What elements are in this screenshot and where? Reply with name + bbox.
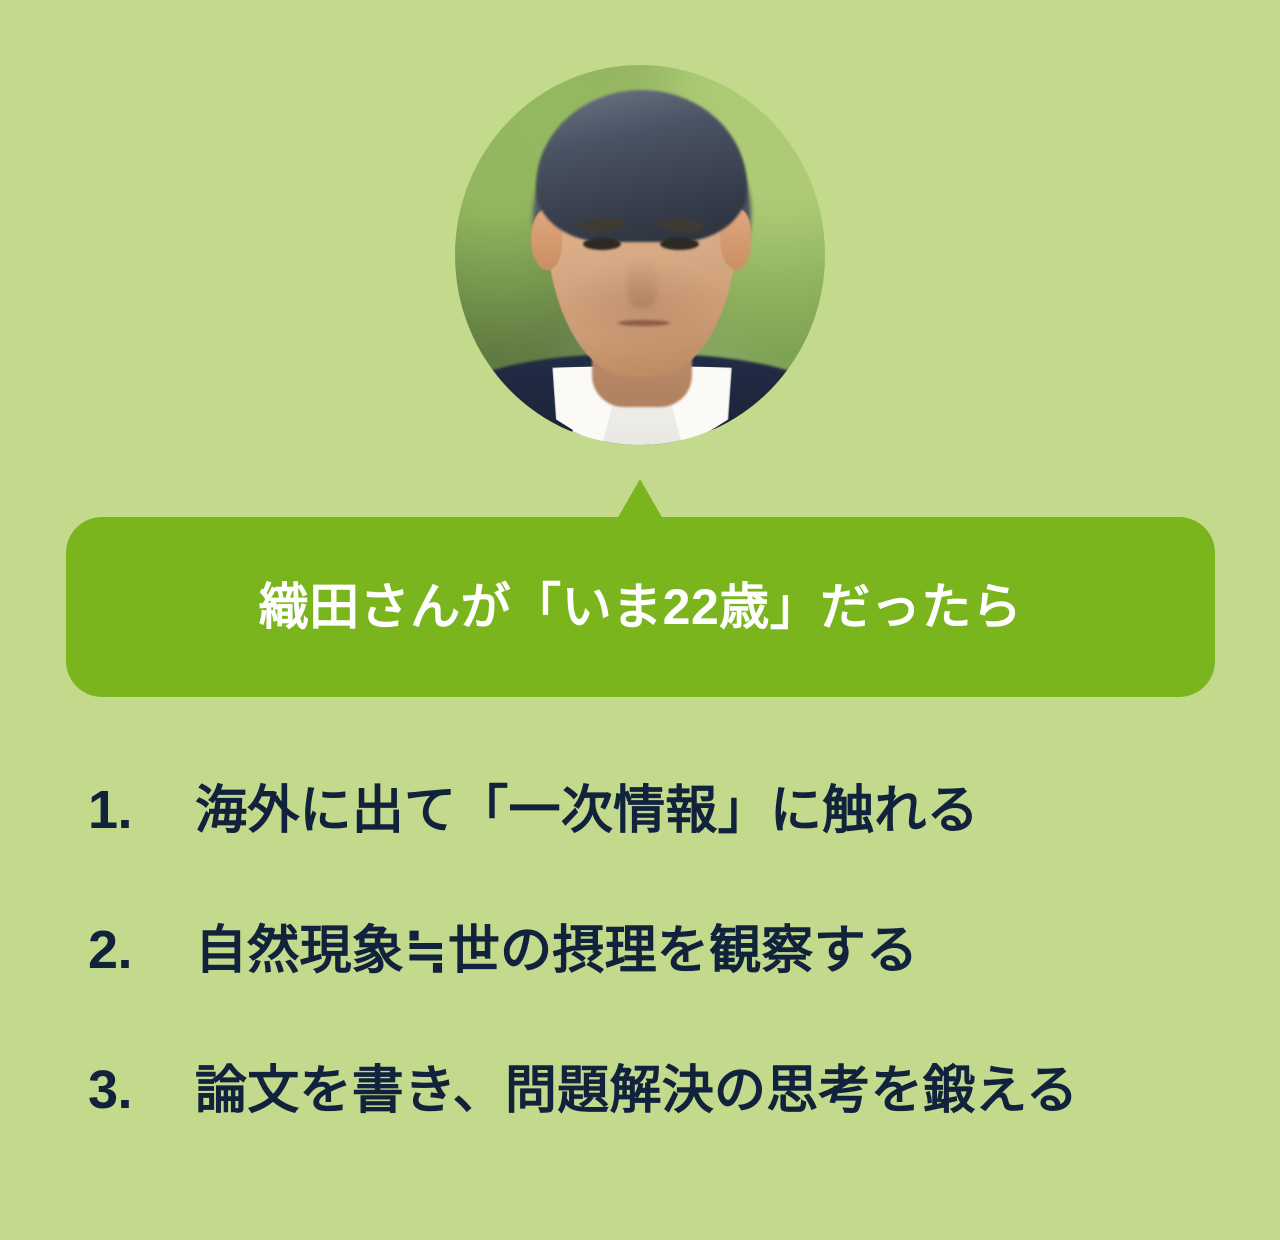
list-item: 1. 海外に出て「一次情報」に触れる <box>88 768 1208 908</box>
list-item-text: 海外に出て「一次情報」に触れる <box>195 768 979 843</box>
list-item-text: 論文を書き、問題解決の思考を鍛える <box>195 1048 1078 1123</box>
speech-bubble: 織田さんが「いま22歳」だったら <box>66 517 1215 697</box>
list-item: 3. 論文を書き、問題解決の思考を鍛える <box>88 1048 1208 1188</box>
numbered-list: 1. 海外に出て「一次情報」に触れる 2. 自然現象≒世の摂理を観察する 3. … <box>88 768 1208 1188</box>
bubble-title: 織田さんが「いま22歳」だったら <box>259 577 1023 637</box>
list-item-text: 自然現象≒世の摂理を観察する <box>195 908 918 983</box>
eye-right <box>660 238 699 250</box>
speech-bubble-pointer-icon <box>617 479 663 519</box>
list-item-number: 1. <box>88 779 195 841</box>
list-item: 2. 自然現象≒世の摂理を観察する <box>88 908 1208 1048</box>
portrait-avatar <box>455 65 825 445</box>
list-item-number: 2. <box>88 919 195 981</box>
infographic-card: 織田さんが「いま22歳」だったら 1. 海外に出て「一次情報」に触れる 2. 自… <box>0 0 1280 1240</box>
cheek-shading <box>555 263 733 347</box>
portrait-photo <box>455 65 825 445</box>
list-item-number: 3. <box>88 1059 195 1121</box>
